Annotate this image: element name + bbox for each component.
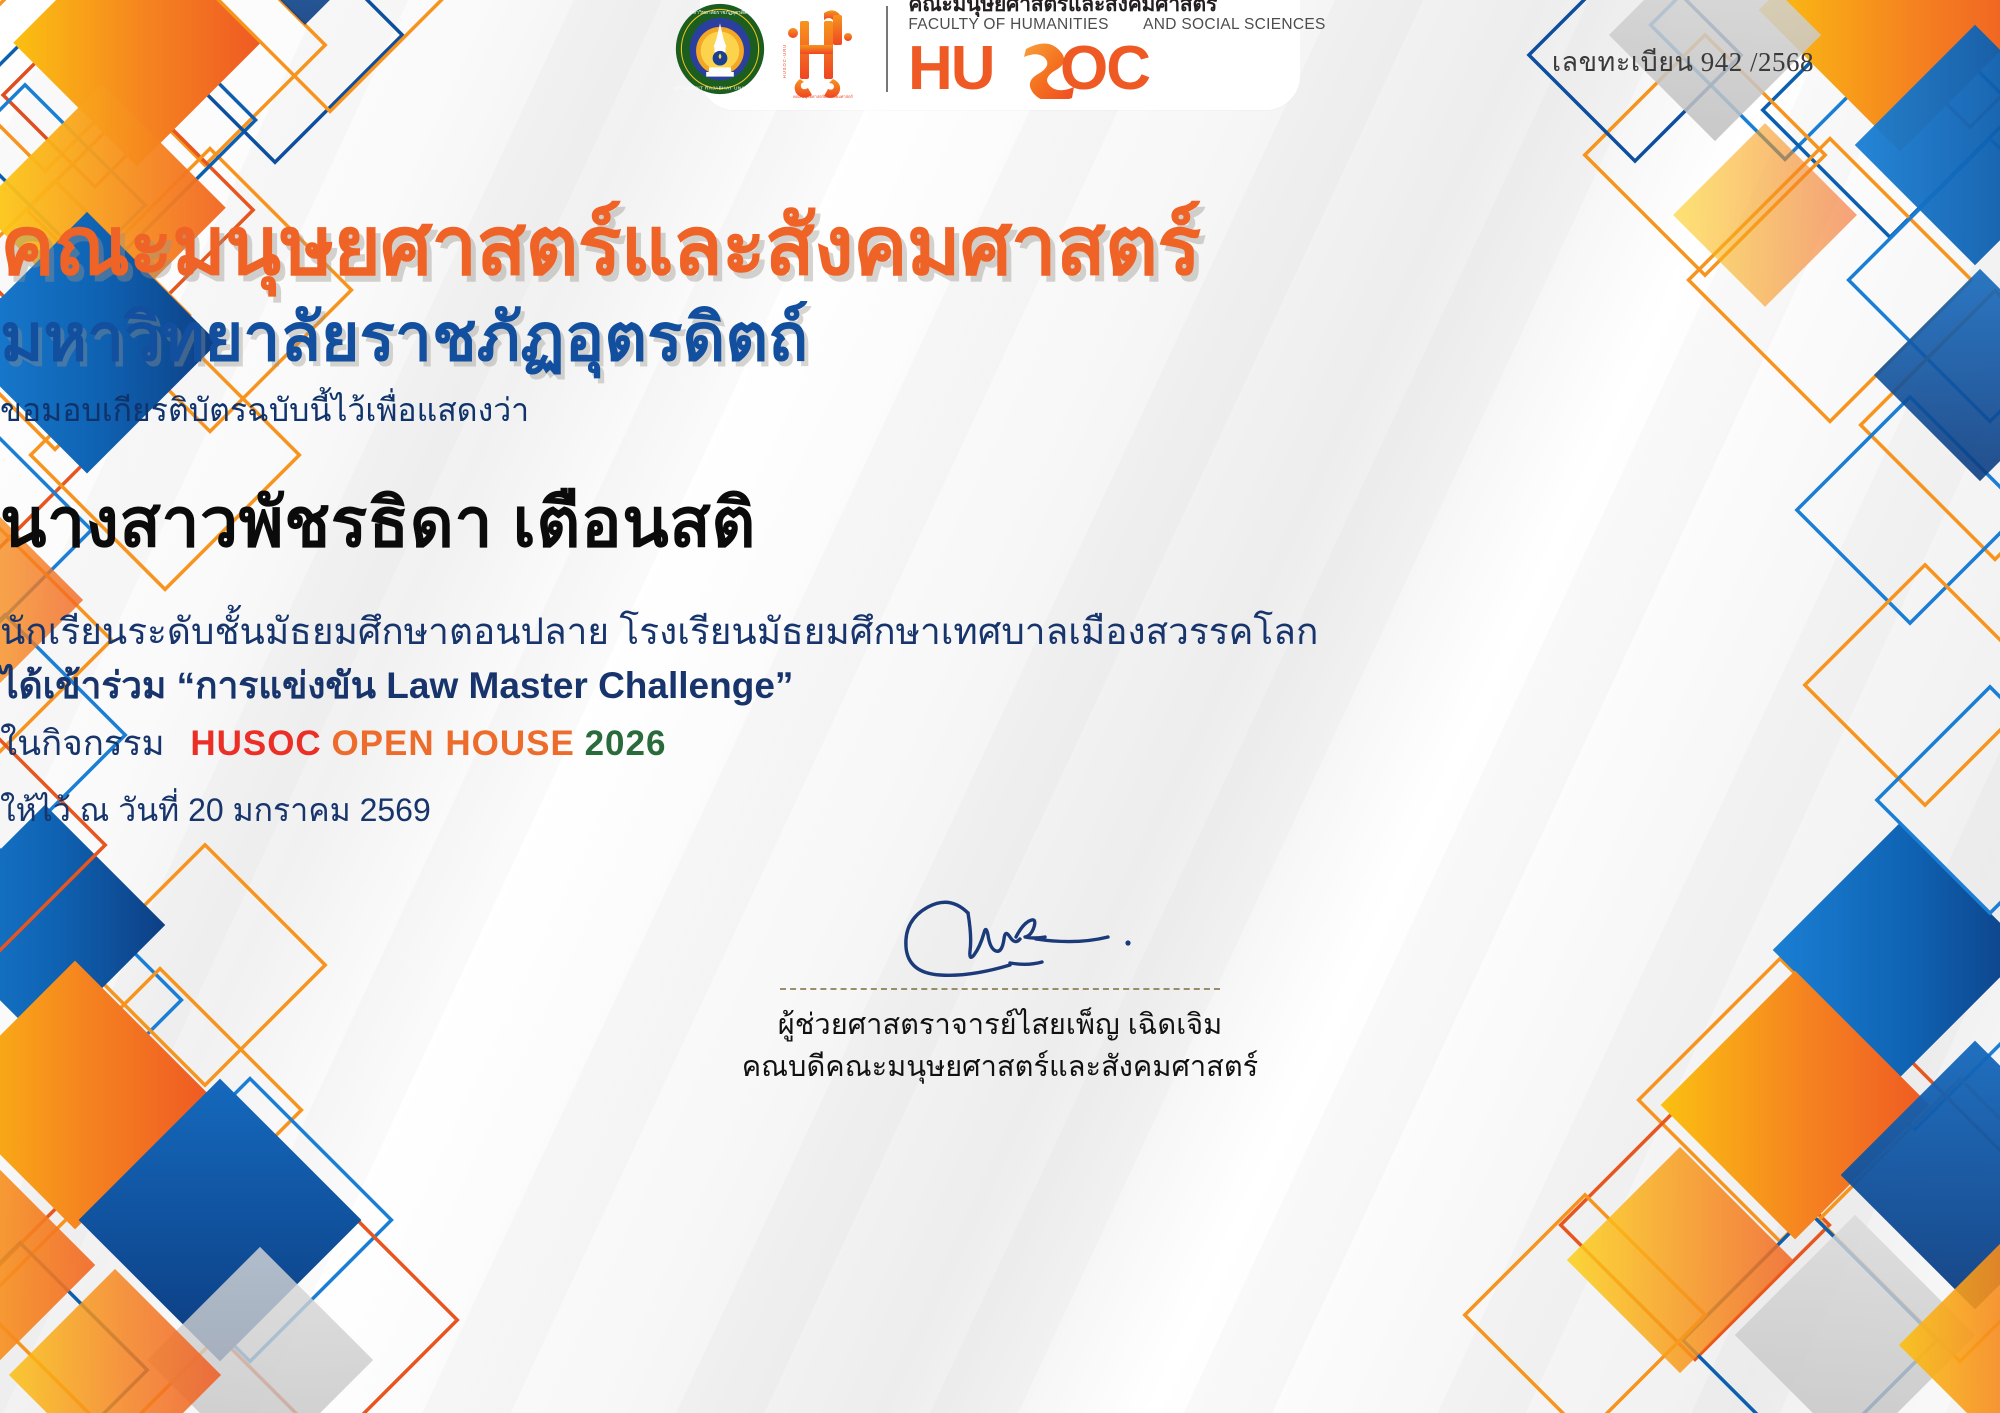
signature-rule	[780, 988, 1220, 990]
signature-block: ผู้ช่วยศาสตราจารย์ไสยเพ็ญ เฉิดเจิม คณบดี…	[690, 885, 1310, 1088]
activity-openhouse: OPEN HOUSE	[331, 724, 574, 763]
activity-year: 2026	[585, 724, 667, 763]
faculty-name-thai: คณะมนุษยศาสตร์และสังคมศาสตร์	[908, 0, 1325, 16]
faculty-en-left: FACULTY OF HUMANITIES	[908, 16, 1108, 33]
svg-text:UTTARADIT RAJABHAT UNIVERSITY: UTTARADIT RAJABHAT UNIVERSITY	[674, 85, 766, 91]
certificate-title-line2: มหาวิทยาลัยราชภัฏอุตรดิตถ์	[0, 300, 2000, 376]
registration-number: เลขทะเบียน 942 /2568	[1552, 40, 1814, 83]
certificate-subtitle: ขอมอบเกียรติบัตรฉบับนี้ไว้เพื่อแสดงว่า	[0, 390, 2000, 432]
university-seal-icon: มหาวิทยาลัยราชภัฏอุตรดิตถ์ UTTARADIT RAJ…	[674, 3, 766, 95]
husoc-thai-monogram-icon: HUSOC-URU คณะมนุษยศาสตร์และสังคมศาสตร์	[780, 0, 866, 99]
activity-husoc: HUSOC	[190, 724, 321, 763]
event-participation-line: ได้เข้าร่วม “การแข่งขัน Law Master Chall…	[0, 662, 2000, 710]
signer-role: คณบดีคณะมนุษยศาสตร์และสังคมศาสตร์	[690, 1046, 1310, 1088]
signature-mark-icon	[690, 885, 1310, 980]
certificate: มหาวิทยาลัยราชภัฏอุตรดิตถ์ UTTARADIT RAJ…	[0, 0, 2000, 1413]
husoc-wordmark: HU OC	[908, 37, 1325, 104]
deco-bottom-right	[1465, 823, 2000, 1413]
recipient-school-line: นักเรียนระดับชั้นมัธยมศึกษาตอนปลาย โรงเร…	[0, 608, 2000, 656]
svg-text:HUSOC-URU: HUSOC-URU	[782, 43, 787, 78]
deco-bottom-left	[0, 805, 457, 1413]
certificate-title-line1: คณะมนุษยศาสตร์และสังคมศาสตร์	[0, 200, 2000, 294]
svg-text:คณะมนุษยศาสตร์และสังคมศาสตร์: คณะมนุษยศาสตร์และสังคมศาสตร์	[793, 94, 854, 100]
issue-date-line: ให้ไว้ ณ วันที่ 20 มกราคม 2569	[0, 790, 2000, 832]
activity-line: ในกิจกรรม HUSOC OPEN HOUSE 2026	[0, 721, 2000, 767]
recipient-name: นางสาวพัชรธิดา เตือนสติ	[0, 481, 2000, 566]
signer-name: ผู้ช่วยศาสตราจารย์ไสยเพ็ญ เฉิดเจิม	[690, 1004, 1310, 1046]
activity-prefix: ในกิจกรรม	[0, 724, 165, 763]
logo-divider	[886, 6, 888, 92]
faculty-name-english: FACULTY OF HUMANITIES AND SOCIAL SCIENCE…	[908, 16, 1325, 35]
faculty-en-right: AND SOCIAL SCIENCES	[1143, 16, 1326, 33]
logo-header-panel: มหาวิทยาลัยราชภัฏอุตรดิตถ์ UTTARADIT RAJ…	[700, 0, 1300, 110]
svg-text:HU: HU	[908, 37, 994, 99]
svg-text:OC: OC	[1060, 37, 1150, 99]
